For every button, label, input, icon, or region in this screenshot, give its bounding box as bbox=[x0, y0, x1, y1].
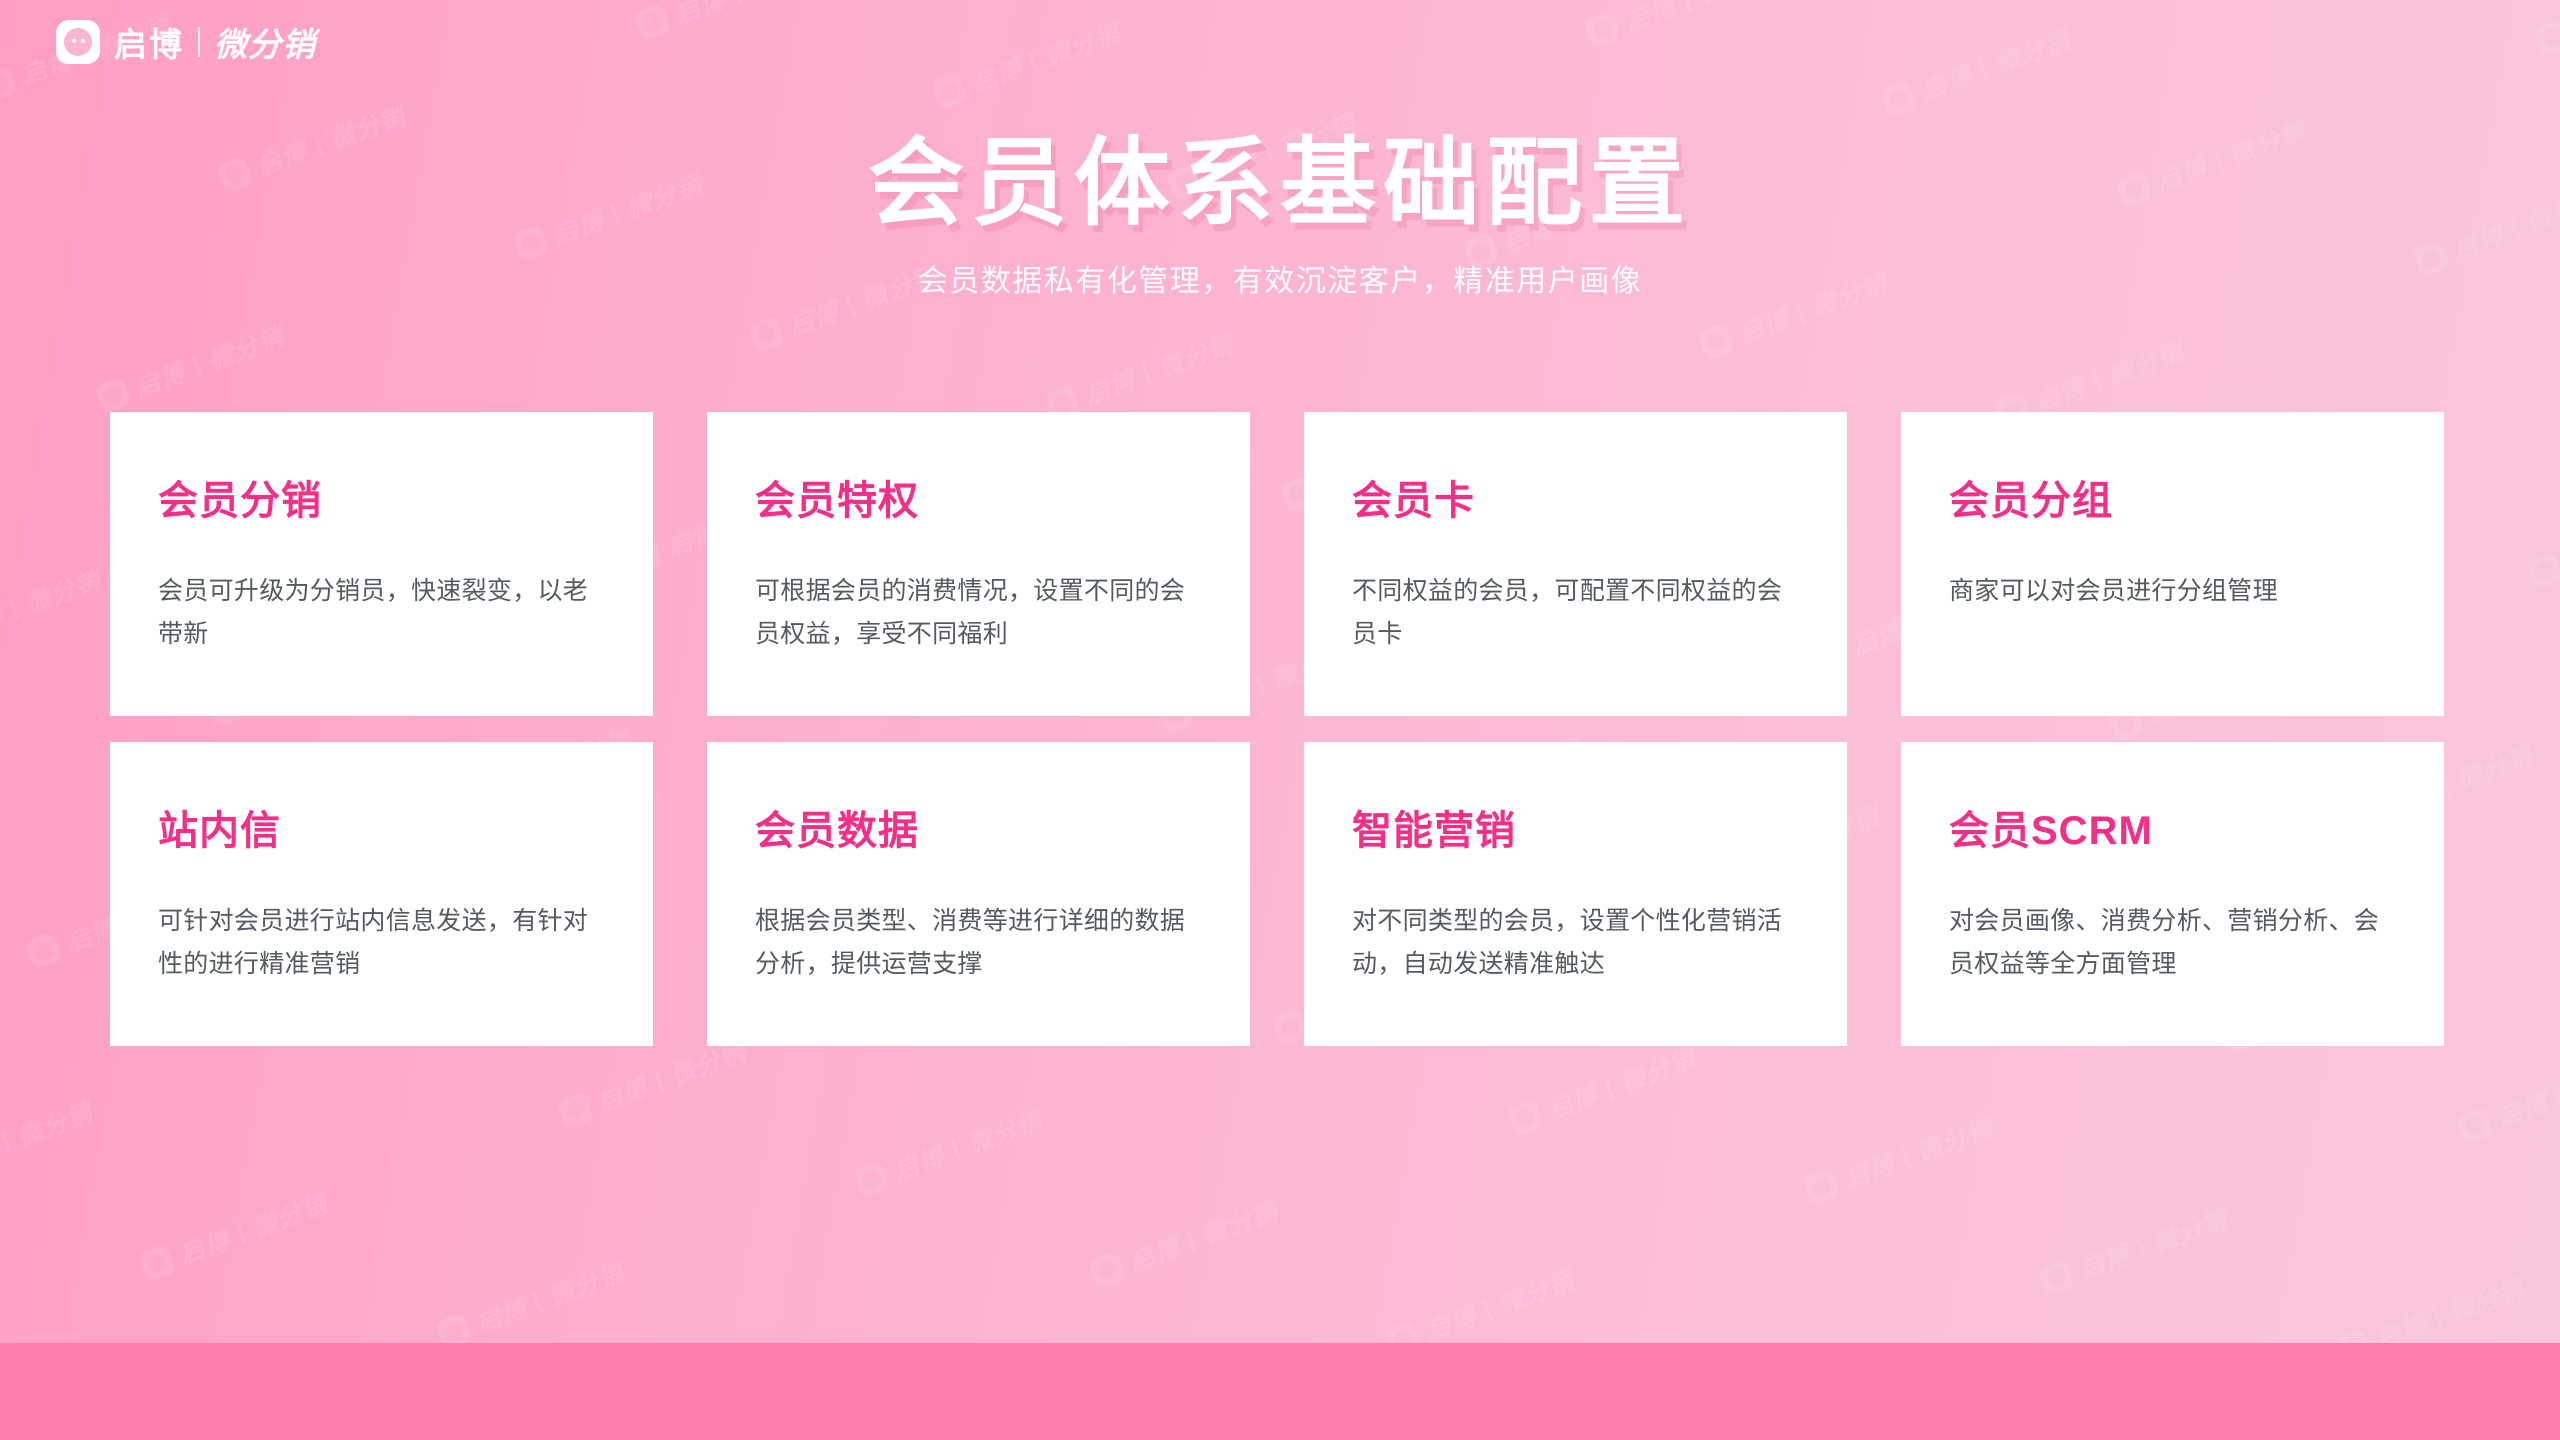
feature-card-description: 对会员画像、消费分析、营销分析、会员权益等全方面管理 bbox=[1949, 900, 2396, 986]
watermark-logo-icon: 启博|微分销 bbox=[1043, 325, 1239, 426]
watermark-separator: | bbox=[947, 1134, 964, 1164]
watermark-separator: | bbox=[1678, 0, 1695, 15]
watermark-separator: | bbox=[1478, 1294, 1495, 1324]
feature-card-description: 商家可以对会员进行分组管理 bbox=[1949, 570, 2396, 613]
watermark-logo-icon: 启博|微分销 bbox=[2455, 1047, 2560, 1148]
watermark-name: 启博 bbox=[174, 1220, 235, 1272]
smiley-face-shape bbox=[64, 28, 92, 56]
watermark-separator: | bbox=[2550, 1080, 2560, 1110]
watermark-logo-icon: 启博|微分销 bbox=[633, 0, 829, 44]
feature-card[interactable]: 会员卡不同权益的会员，可配置不同权益的会员卡 bbox=[1304, 412, 1847, 716]
page-title: 会员体系基础配置 bbox=[0, 130, 2560, 238]
watermark-separator: | bbox=[1024, 46, 1041, 76]
watermark-name: 启博 bbox=[592, 1068, 653, 1120]
watermark-sub: 微分销 bbox=[247, 1184, 333, 1245]
watermark-sub: 微分销 bbox=[1153, 325, 1239, 386]
smiley-eye-right bbox=[81, 39, 85, 43]
watermark-badge-icon bbox=[138, 1244, 176, 1282]
watermark-separator: | bbox=[1974, 53, 1991, 83]
watermark-separator: | bbox=[0, 1126, 14, 1156]
watermark-badge-icon bbox=[1506, 1099, 1544, 1137]
watermark-badge-icon bbox=[930, 72, 968, 110]
watermark-badge-icon bbox=[0, 64, 19, 102]
watermark-name: 启博 bbox=[470, 1289, 531, 1341]
watermark-sub: 微分销 bbox=[1039, 13, 1125, 74]
watermark-logo-icon: 启博|微分销 bbox=[2524, 492, 2560, 593]
watermark-badge-icon bbox=[2525, 551, 2560, 589]
watermark-badge-icon bbox=[747, 315, 785, 353]
watermark-separator: | bbox=[188, 350, 205, 380]
watermark-logo-icon: 启博|微分销 bbox=[93, 317, 289, 418]
watermark-sub: 微分销 bbox=[743, 0, 829, 4]
hero-section: 会员体系基础配置 会员数据私有化管理，有效沉淀客户，精准用户画像 bbox=[0, 130, 2560, 300]
watermark-sub: 微分销 bbox=[1197, 1192, 1283, 1253]
watermark-logo-icon: 启博|微分销 bbox=[1879, 20, 2075, 121]
watermark-sub: 微分销 bbox=[543, 1253, 629, 1314]
watermark-name: 启博 bbox=[966, 48, 1027, 100]
watermark-sub: 微分销 bbox=[20, 560, 106, 621]
watermark-name: 启博 bbox=[2073, 1235, 2134, 1287]
watermark-badge-icon bbox=[1697, 323, 1735, 361]
smiley-eye-left bbox=[72, 39, 76, 43]
watermark-separator: | bbox=[1600, 1073, 1617, 1103]
watermark-badge-icon bbox=[24, 932, 62, 970]
watermark-badge-icon bbox=[94, 376, 132, 414]
feature-card[interactable]: 会员分组商家可以对会员进行分组管理 bbox=[1901, 412, 2444, 716]
qibo-logo-icon bbox=[56, 20, 100, 64]
watermark-badge-icon bbox=[1584, 11, 1622, 49]
watermark-badge-icon bbox=[2534, 18, 2560, 56]
watermark-badge-icon bbox=[853, 1160, 891, 1198]
watermark-logo-icon: 启博|微分销 bbox=[1801, 1108, 1997, 1209]
feature-card-title: 会员分组 bbox=[1949, 468, 2396, 526]
watermark-separator: | bbox=[528, 1286, 545, 1316]
feature-card-description: 根据会员类型、消费等进行详细的数据分析，提供运营支撑 bbox=[755, 900, 1202, 986]
watermark-separator: | bbox=[1182, 1225, 1199, 1255]
watermark-logo-icon: 启博|微分销 bbox=[433, 1253, 629, 1354]
brand-logo[interactable]: 启博 微分销 bbox=[56, 18, 316, 66]
watermark-badge-icon bbox=[634, 3, 672, 41]
feature-card-description: 对不同类型的会员，设置个性化营销活动，自动发送精准触达 bbox=[1352, 900, 1799, 986]
watermark-name: 启博 bbox=[129, 353, 190, 405]
watermark-sub: 微分销 bbox=[2102, 332, 2188, 393]
watermark-badge-icon bbox=[1802, 1168, 1840, 1206]
watermark-sub: 微分销 bbox=[2451, 735, 2537, 796]
watermark-logo-icon: 启博|微分销 bbox=[929, 13, 1125, 114]
feature-card-title: 会员分销 bbox=[158, 468, 605, 526]
watermark-logo-icon: 启博|微分销 bbox=[1583, 0, 1779, 52]
watermark-name: 启博 bbox=[669, 0, 730, 31]
watermark-badge-icon bbox=[556, 1091, 594, 1129]
watermark-separator: | bbox=[650, 1065, 667, 1095]
brand-sub-label: 微分销 bbox=[214, 18, 316, 66]
bottom-bar bbox=[0, 1343, 2560, 1440]
watermark-logo-icon: 启博|微分销 bbox=[852, 1101, 1048, 1202]
page-subtitle: 会员数据私有化管理，有效沉淀客户，精准用户画像 bbox=[0, 256, 2560, 300]
page-root: 启博|微分销启博|微分销启博|微分销启博|微分销启博|微分销启博|微分销启博|微… bbox=[0, 0, 2560, 1440]
watermark-sub: 微分销 bbox=[2443, 1268, 2529, 1329]
feature-card[interactable]: 会员SCRM对会员画像、消费分析、营销分析、会员权益等全方面管理 bbox=[1901, 742, 2444, 1046]
feature-card-description: 不同权益的会员，可配置不同权益的会员卡 bbox=[1352, 570, 1799, 656]
watermark-separator: | bbox=[1897, 1141, 1914, 1171]
feature-card-title: 会员卡 bbox=[1352, 468, 1799, 526]
watermark-logo-icon: 启博|微分销 bbox=[1505, 1040, 1701, 1141]
feature-card-title: 会员特权 bbox=[755, 468, 1202, 526]
feature-card[interactable]: 会员分销会员可升级为分销员，快速裂变，以老带新 bbox=[110, 412, 653, 716]
watermark-name: 启博 bbox=[2492, 1083, 2553, 1135]
watermark-logo-icon: 启博|微分销 bbox=[555, 1032, 751, 1133]
watermark-sub: 微分销 bbox=[203, 317, 289, 378]
watermark-name: 启博 bbox=[888, 1136, 949, 1188]
watermark-logo-icon: 启博|微分销 bbox=[137, 1184, 333, 1285]
watermark-name: 启博 bbox=[0, 596, 8, 648]
feature-card[interactable]: 会员数据根据会员类型、消费等进行详细的数据分析，提供运营支撑 bbox=[707, 742, 1250, 1046]
feature-card-title: 智能营销 bbox=[1352, 798, 1799, 856]
watermark-badge-icon bbox=[2038, 1259, 2076, 1297]
watermark-logo-icon: 启博|微分销 bbox=[2532, 0, 2560, 60]
feature-card-title: 会员SCRM bbox=[1949, 798, 2396, 856]
feature-card-grid: 会员分销会员可升级为分销员，快速裂变，以老带新会员特权可根据会员的消费情况，设置… bbox=[110, 412, 2444, 1046]
watermark-separator: | bbox=[1791, 297, 1808, 327]
watermark-separator: | bbox=[5, 593, 22, 623]
watermark-name: 启博 bbox=[1123, 1227, 1184, 1279]
watermark-badge-icon bbox=[1088, 1251, 1126, 1289]
watermark-logo-icon: 启博|微分销 bbox=[0, 1093, 97, 1194]
watermark-name: 启博 bbox=[1619, 0, 1680, 39]
watermark-name: 启博 bbox=[1733, 299, 1794, 351]
brand-separator bbox=[198, 27, 200, 57]
watermark-separator: | bbox=[1138, 358, 1155, 388]
watermark-logo-icon: 启博|微分销 bbox=[1087, 1192, 1283, 1293]
watermark-name: 启博 bbox=[1420, 1296, 1481, 1348]
feature-card-description: 会员可升级为分销员，快速裂变，以老带新 bbox=[158, 570, 605, 656]
feature-card-title: 会员数据 bbox=[755, 798, 1202, 856]
watermark-name: 启博 bbox=[1916, 56, 1977, 108]
brand-name-label: 启博 bbox=[114, 18, 184, 66]
watermark-sub: 微分销 bbox=[12, 1093, 98, 1154]
watermark-sub: 微分销 bbox=[961, 1101, 1047, 1162]
watermark-sub: 微分销 bbox=[1693, 0, 1779, 12]
watermark-sub: 微分销 bbox=[1615, 1040, 1701, 1101]
watermark-separator: | bbox=[2428, 1301, 2445, 1331]
feature-card-description: 可针对会员进行站内信息发送，有针对性的进行精准营销 bbox=[158, 900, 605, 986]
watermark-separator: | bbox=[2088, 365, 2105, 395]
watermark-sub: 微分销 bbox=[1989, 20, 2075, 81]
feature-card[interactable]: 会员特权可根据会员的消费情况，设置不同的会员权益，享受不同福利 bbox=[707, 412, 1250, 716]
watermark-sub: 微分销 bbox=[2147, 1199, 2233, 1260]
watermark-name: 启博 bbox=[1838, 1144, 1899, 1196]
watermark-badge-icon bbox=[2456, 1106, 2494, 1144]
watermark-logo-icon: 启博|微分销 bbox=[2037, 1199, 2233, 1300]
watermark-separator: | bbox=[2132, 1232, 2149, 1262]
feature-card[interactable]: 站内信可针对会员进行站内信息发送，有针对性的进行精准营销 bbox=[110, 742, 653, 1046]
feature-card-description: 可根据会员的消费情况，设置不同的会员权益，享受不同福利 bbox=[755, 570, 1202, 656]
watermark-logo-icon: 启博|微分销 bbox=[0, 560, 105, 661]
feature-card[interactable]: 智能营销对不同类型的会员，设置个性化营销活动，自动发送精准触达 bbox=[1304, 742, 1847, 1046]
feature-card-title: 站内信 bbox=[158, 798, 605, 856]
watermark-name: 启博 bbox=[1079, 360, 1140, 412]
watermark-sub: 微分销 bbox=[1911, 1108, 1997, 1169]
watermark-separator: | bbox=[232, 1217, 249, 1247]
watermark-sub: 微分销 bbox=[1493, 1261, 1579, 1322]
watermark-name: 启博 bbox=[1542, 1075, 1603, 1127]
watermark-separator: | bbox=[728, 0, 745, 7]
watermark-badge-icon bbox=[1880, 80, 1918, 118]
